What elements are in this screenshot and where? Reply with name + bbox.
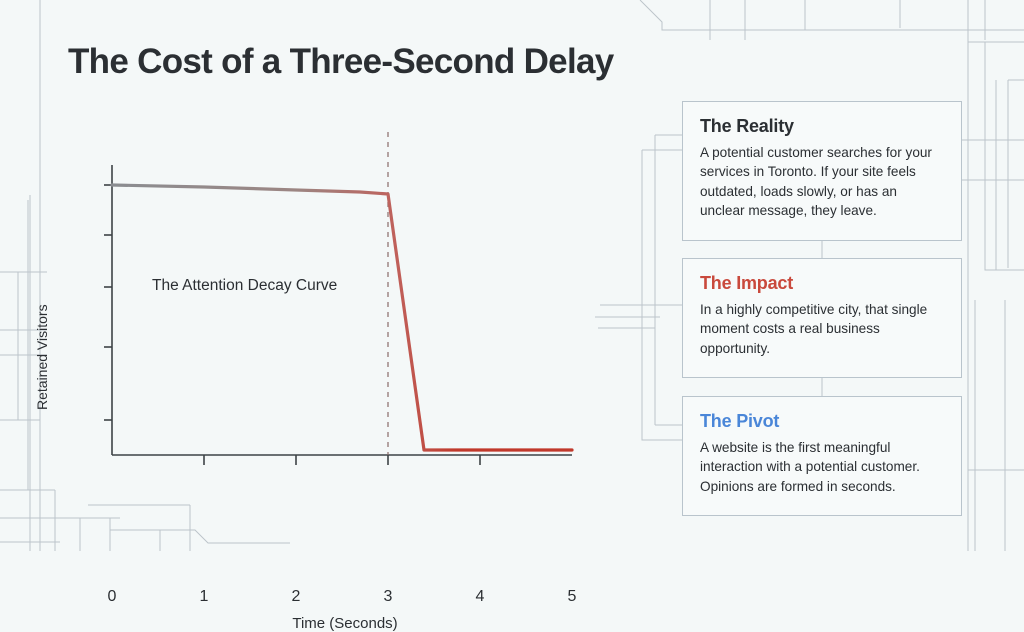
y-axis-label: Retained Visitors	[34, 304, 50, 410]
card-title-pivot: The Pivot	[700, 411, 944, 432]
x-tick-label-3: 3	[384, 588, 393, 606]
page-title: The Cost of a Three-Second Delay	[68, 42, 614, 82]
card-title-impact: The Impact	[700, 273, 944, 294]
chart-plot-svg	[60, 120, 620, 520]
card-body-impact: In a highly competitive city, that singl…	[700, 300, 944, 358]
x-tick-label-5: 5	[568, 588, 577, 606]
x-tick-label-2: 2	[292, 588, 301, 606]
x-tick-label-1: 1	[200, 588, 209, 606]
card-title-reality: The Reality	[700, 116, 944, 137]
info-card-impact: The Impact In a highly competitive city,…	[682, 258, 962, 378]
curve-annotation-label: The Attention Decay Curve	[152, 277, 337, 295]
info-card-pivot: The Pivot A website is the first meaning…	[682, 396, 962, 516]
card-body-pivot: A website is the first meaningful intera…	[700, 438, 944, 496]
card-body-reality: A potential customer searches for your s…	[700, 143, 944, 220]
x-axis-label: Time (Seconds)	[292, 615, 397, 632]
attention-decay-chart: The Attention Decay Curve Retained Visit…	[60, 120, 620, 520]
x-tick-label-4: 4	[476, 588, 485, 606]
x-tick-label-0: 0	[108, 588, 117, 606]
info-card-reality: The Reality A potential customer searche…	[682, 101, 962, 241]
infographic-root: The Cost of a Three-Second Delay	[0, 0, 1024, 551]
